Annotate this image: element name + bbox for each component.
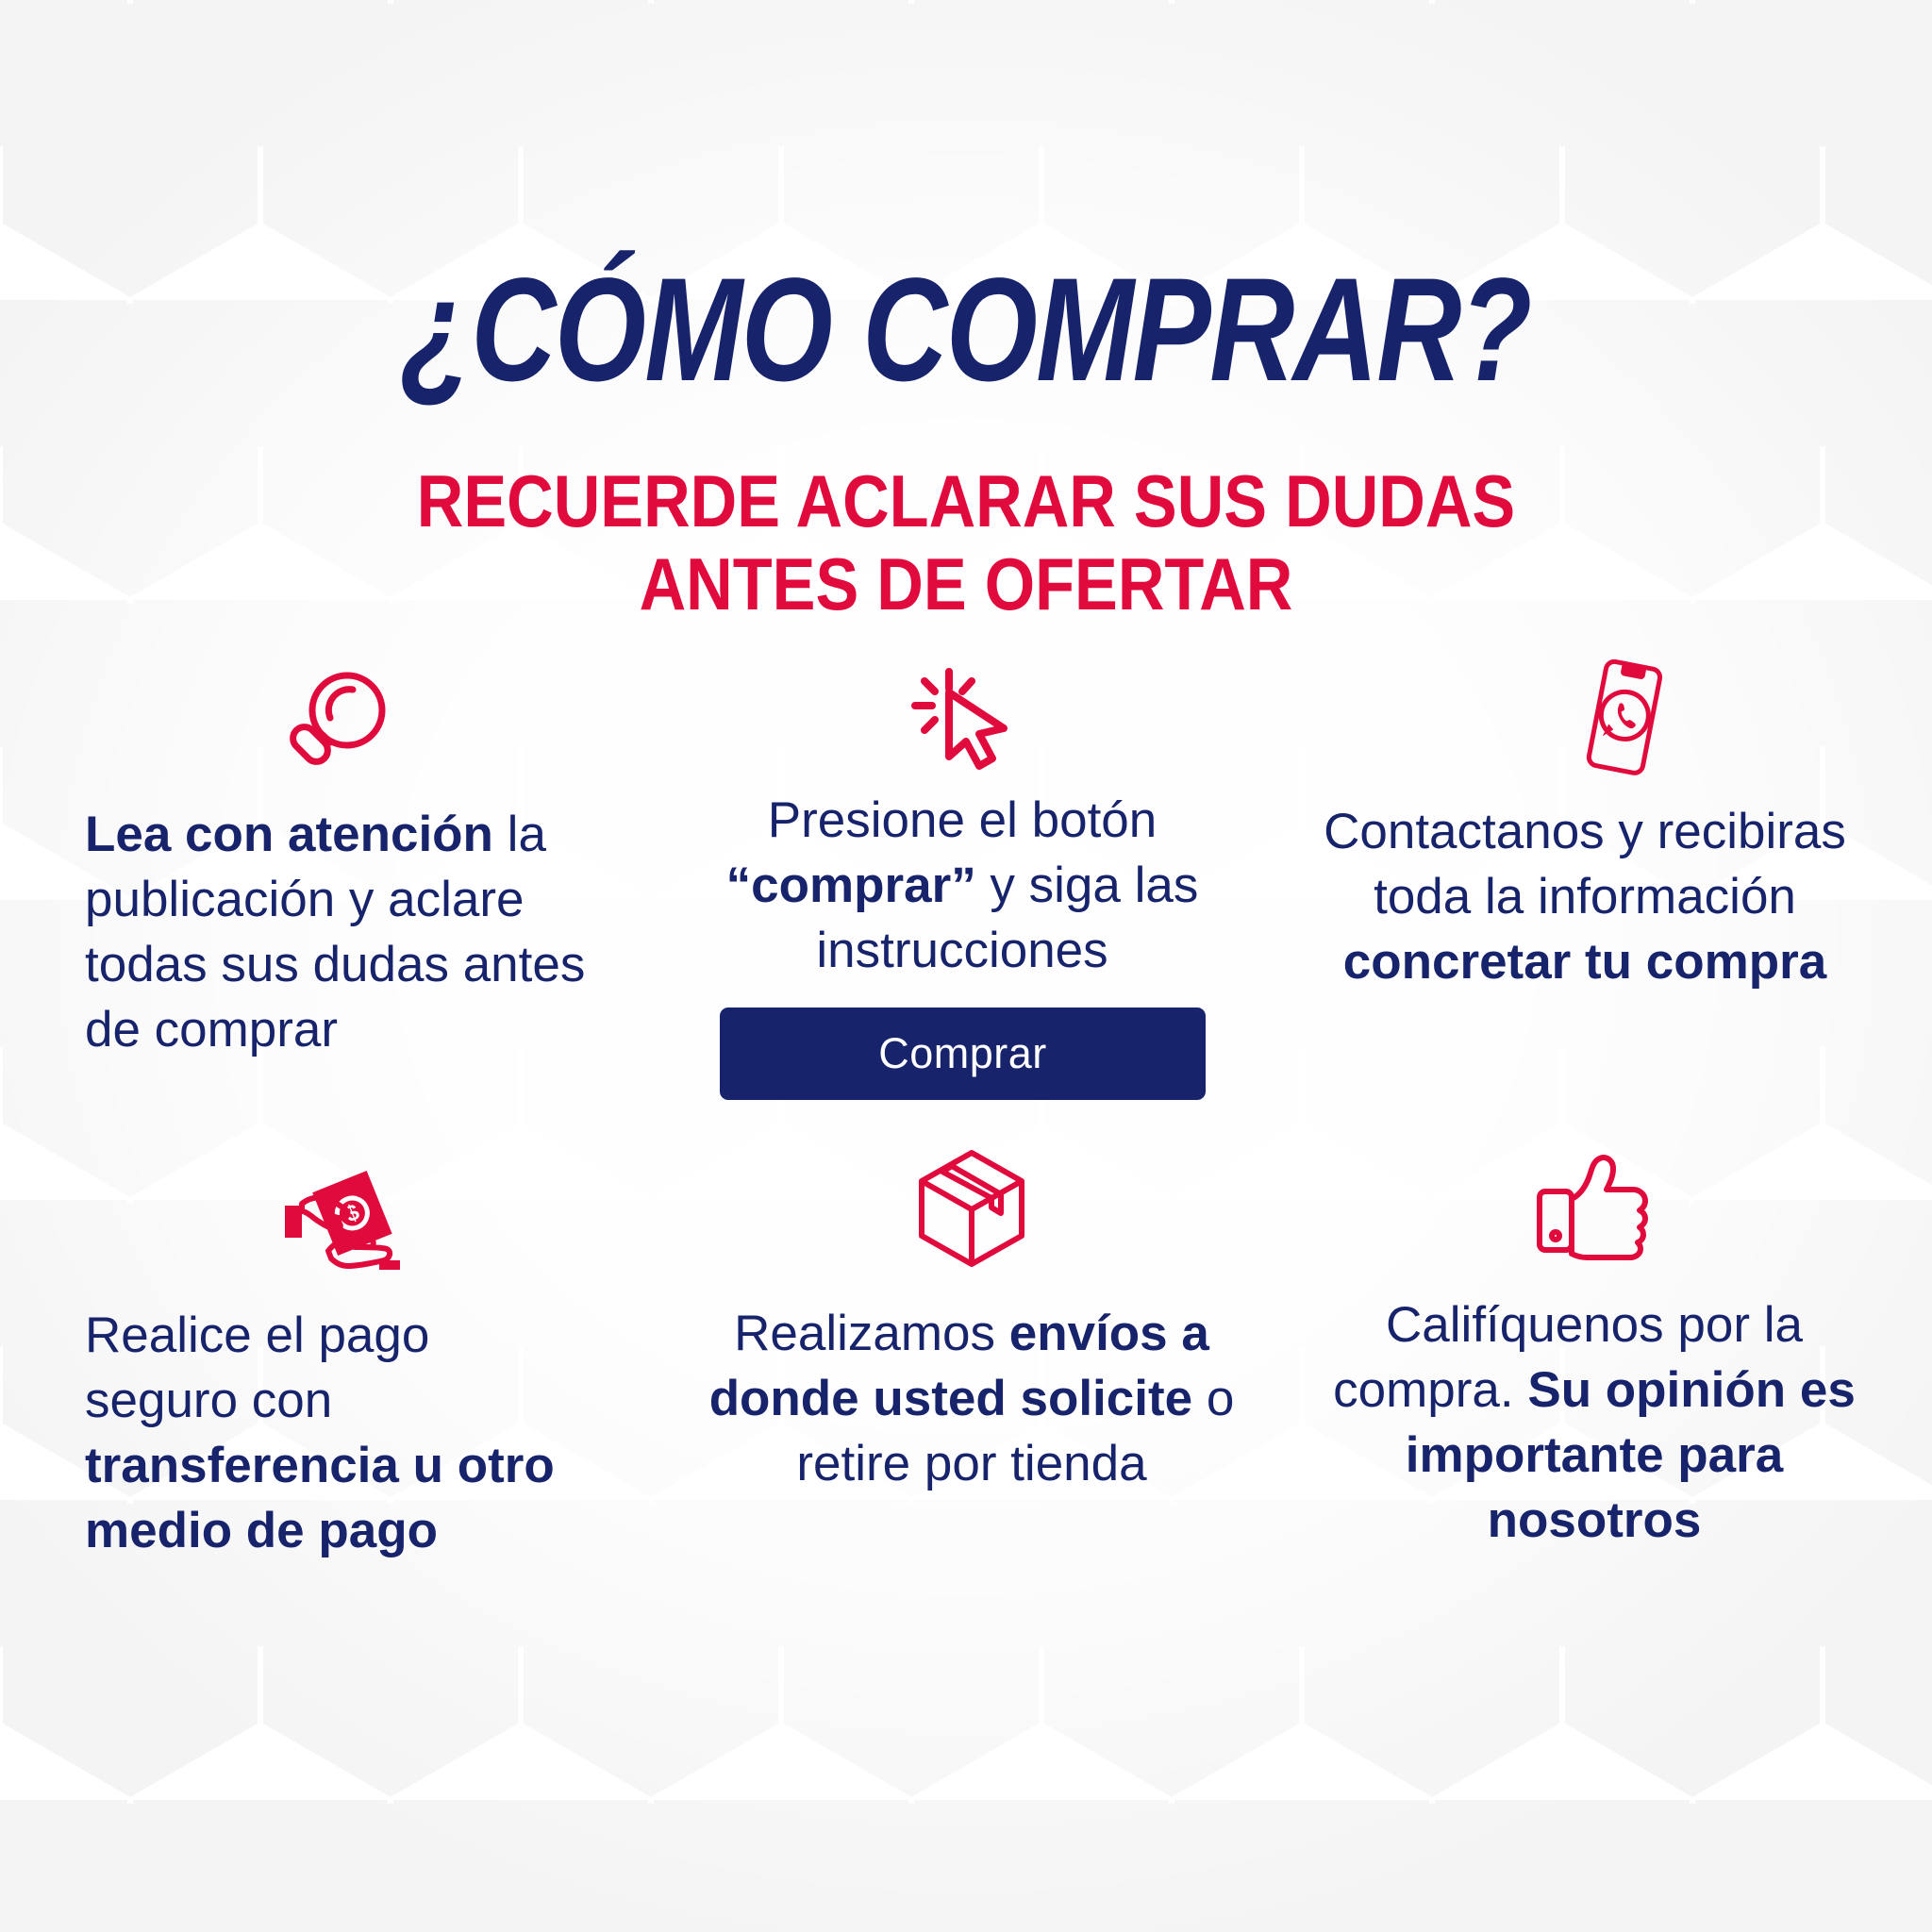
step-text-payment: Realice el pago seguro con transferencia… (85, 1283, 594, 1564)
step-icon-click-wrapper (698, 660, 1226, 774)
step-icon-whatsapp-wrapper (1321, 651, 1887, 783)
step-text-read-bold: Lea con atención (85, 807, 493, 862)
step-card-read: Lea con atención la publicación y aclare… (85, 665, 594, 1063)
step-icon-shipping-wrapper (708, 1141, 1236, 1274)
comprar-button-label: Comprar (878, 1029, 1047, 1078)
step-text-payment-p2: transferencia u otro medio de pago (85, 1438, 555, 1558)
thumbs-up-icon (1528, 1146, 1660, 1269)
step-card-click: Presione el botón “comprar” y siga las i… (698, 660, 1226, 984)
step-icon-rating-wrapper (1330, 1146, 1858, 1269)
step-card-rating: Califíquenos por la compra. Su opinión e… (1330, 1146, 1858, 1554)
step-icon-payment-wrapper: $ (85, 1160, 783, 1283)
money-hands-icon: $ (274, 1160, 415, 1283)
step-text-payment-p1: Realice el pago seguro con (85, 1307, 429, 1428)
step-icon-read-wrapper (85, 665, 783, 788)
subtitle-line-1: RECUERDE ACLARAR SUS DUDAS (116, 459, 1816, 542)
step-text-click-p1: Presione el botón (768, 792, 1158, 848)
step-text-shipping: Realizamos envíos a donde usted solicite… (708, 1274, 1236, 1497)
step-text-shipping-p1: Realizamos (734, 1306, 1009, 1361)
step-text-click: Presione el botón “comprar” y siga las i… (698, 774, 1226, 984)
page-title-wrapper: ¿CÓMO COMPRAR? (0, 257, 1932, 404)
step-text-rating: Califíquenos por la compra. Su opinión e… (1330, 1269, 1858, 1554)
comprar-button[interactable]: Comprar (720, 1008, 1206, 1100)
page-subtitle: RECUERDE ACLARAR SUS DUDAS ANTES DE OFER… (0, 459, 1932, 625)
step-text-whatsapp-p1: Contactanos y recibiras toda la informac… (1324, 804, 1846, 924)
step-card-shipping: Realizamos envíos a donde usted solicite… (708, 1141, 1236, 1497)
step-card-payment: $ Realice el pago seguro con transferenc… (85, 1160, 594, 1564)
package-box-icon (910, 1141, 1033, 1274)
infographic-page: ¿CÓMO COMPRAR? RECUERDE ACLARAR SUS DUDA… (0, 0, 1932, 1932)
step-text-read: Lea con atención la publicación y aclare… (85, 788, 594, 1063)
step-text-whatsapp-p2: concretar tu compra (1343, 934, 1826, 990)
magnifier-icon (274, 665, 396, 788)
subtitle-line-2: ANTES DE OFERTAR (116, 542, 1816, 625)
page-title: ¿CÓMO COMPRAR? (401, 257, 1531, 404)
click-cursor-icon (906, 660, 1019, 774)
step-text-click-p2: “comprar” (726, 858, 976, 913)
step-text-whatsapp: Contactanos y recibiras toda la informac… (1321, 783, 1849, 995)
whatsapp-phone-icon (1561, 651, 1684, 783)
step-card-whatsapp: Contactanos y recibiras toda la informac… (1321, 651, 1849, 995)
